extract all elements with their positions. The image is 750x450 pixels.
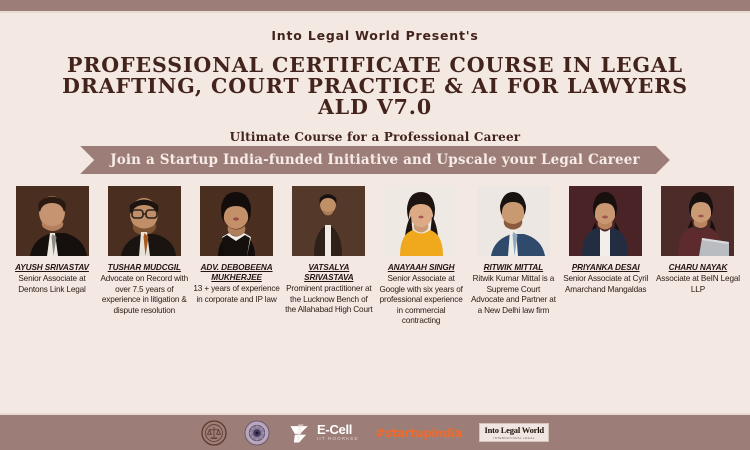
photo-ritwik-mittal bbox=[477, 186, 550, 256]
speaker-name: CHARU NAYAK bbox=[669, 263, 728, 273]
footer-bar: E-Cell IIT ROORKEE #startupindia Into Le… bbox=[0, 413, 750, 450]
ecell-title: E-Cell bbox=[317, 423, 359, 436]
photo-ayush-srivastav bbox=[16, 186, 89, 256]
photo-charu-nayak bbox=[661, 186, 734, 256]
into-legal-world-logo: Into Legal World INTERNATIONAL LEGAL bbox=[479, 423, 548, 442]
speaker-description: Prominent practitioner at the Lucknow Be… bbox=[285, 284, 373, 316]
speaker-card: RITWIK MITTAL Ritwik Kumar Mittal is a S… bbox=[469, 186, 557, 316]
photo-anayaah-singh bbox=[385, 186, 458, 256]
into-legal-world-subtitle: INTERNATIONAL LEGAL bbox=[494, 436, 535, 440]
ecell-iit-roorkee-logo: E-Cell IIT ROORKEE bbox=[287, 420, 359, 446]
speaker-description: 13 + years of experience in corporate an… bbox=[193, 284, 281, 305]
speaker-list: AYUSH SRIVASTAV Senior Associate at Dent… bbox=[8, 186, 742, 401]
speaker-card: ADV. DEBOBEENA MUKHERJEE 13 + years of e… bbox=[193, 186, 281, 305]
speaker-name: ADV. DEBOBEENA MUKHERJEE bbox=[193, 263, 281, 283]
ribbon-shape: Join a Startup India-funded Initiative a… bbox=[80, 146, 670, 174]
speaker-name: VATSALYA SRIVASTAVA bbox=[285, 263, 373, 283]
speaker-name: ANAYAAH SINGH bbox=[388, 263, 455, 273]
government-emblem-seal-icon bbox=[244, 420, 270, 446]
footer-logo-strip: E-Cell IIT ROORKEE #startupindia Into Le… bbox=[0, 415, 750, 450]
speaker-name: RITWIK MITTAL bbox=[484, 263, 543, 273]
page-title: PROFESSIONAL CERTIFICATE COURSE IN LEGAL… bbox=[0, 55, 750, 118]
presenter-line: Into Legal World Present's bbox=[0, 28, 750, 43]
poster-header: Into Legal World Present's PROFESSIONAL … bbox=[0, 13, 750, 144]
photo-tushar-mudcgil bbox=[108, 186, 181, 256]
speaker-name: AYUSH SRIVASTAV bbox=[15, 263, 89, 273]
into-legal-world-title: Into Legal World bbox=[484, 426, 543, 435]
bar-council-seal-icon bbox=[201, 420, 227, 446]
speaker-description: Ritwik Kumar Mittal is a Supreme Court A… bbox=[469, 274, 557, 316]
speaker-card: PRIYANKA DESAI Senior Associate at Cyril… bbox=[562, 186, 650, 295]
speaker-description: Advocate on Record with over 7.5 years o… bbox=[100, 274, 188, 316]
speaker-name: PRIYANKA DESAI bbox=[572, 263, 640, 273]
speaker-description: Senior Associate at Dentons Link Legal bbox=[8, 274, 96, 295]
poster-root: Into Legal World Present's PROFESSIONAL … bbox=[0, 0, 750, 450]
speaker-description: Associate at BeIN Legal LLP bbox=[654, 274, 742, 295]
page-subtitle: Ultimate Course for a Professional Caree… bbox=[0, 130, 750, 144]
ecell-subtitle: IIT ROORKEE bbox=[317, 437, 359, 442]
title-line-3: ALD V7.0 bbox=[12, 97, 738, 118]
speaker-card: TUSHAR MUDCGIL Advocate on Record with o… bbox=[100, 186, 188, 316]
ecell-mark-icon bbox=[287, 420, 313, 446]
photo-debobeena-mukherjee bbox=[200, 186, 273, 256]
speaker-description: Senior Associate at Cyril Amarchand Mang… bbox=[562, 274, 650, 295]
top-accent-bar bbox=[0, 0, 750, 11]
photo-priyanka-desai bbox=[569, 186, 642, 256]
title-line-2: DRAFTING, COURT PRACTICE & AI FOR LAWYER… bbox=[12, 76, 738, 97]
speaker-card: VATSALYA SRIVASTAVA Prominent practition… bbox=[285, 186, 373, 316]
ribbon-label: Join a Startup India-funded Initiative a… bbox=[110, 152, 640, 168]
title-line-1: PROFESSIONAL CERTIFICATE COURSE IN LEGAL bbox=[12, 55, 738, 76]
photo-vatsalya-srivastava bbox=[292, 186, 365, 256]
speaker-card: AYUSH SRIVASTAV Senior Associate at Dent… bbox=[8, 186, 96, 295]
speaker-card: CHARU NAYAK Associate at BeIN Legal LLP bbox=[654, 186, 742, 295]
speaker-description: Senior Associate at Google with six year… bbox=[377, 274, 465, 327]
startupindia-label: #startupindia bbox=[376, 426, 463, 440]
speaker-card: ANAYAAH SINGH Senior Associate at Google… bbox=[377, 186, 465, 327]
ribbon-banner: Join a Startup India-funded Initiative a… bbox=[0, 146, 750, 174]
startupindia-logo: #startupindia bbox=[376, 426, 463, 440]
speaker-name: TUSHAR MUDCGIL bbox=[108, 263, 181, 273]
